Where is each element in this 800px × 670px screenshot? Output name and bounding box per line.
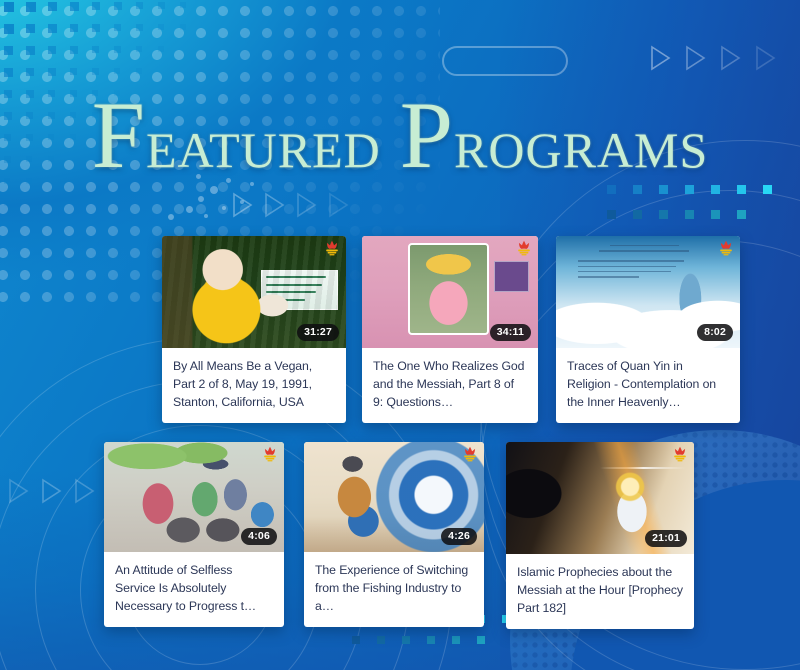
grid-square [427,636,435,644]
lotus-logo-icon [461,446,479,462]
grid-square [607,185,616,194]
halftone-square [158,46,164,52]
grid-square [659,210,668,219]
play-triangle-icon [232,192,253,223]
grid-square [737,210,746,219]
halftone-square [180,24,186,30]
program-title[interactable]: Traces of Quan Yin in Religion - Contemp… [556,348,740,423]
play-triangle-icon [720,45,741,76]
program-card[interactable]: 8:02Traces of Quan Yin in Religion - Con… [556,236,740,423]
halftone-square [48,68,56,76]
play-triangle-icon [8,478,29,504]
halftone-square [48,46,56,54]
lotus-logo-icon [717,240,735,256]
grid-square [685,185,694,194]
grid-square [737,185,746,194]
grid-square [685,210,694,219]
duration-badge: 8:02 [697,324,733,341]
decorative-dot [186,206,193,213]
halftone-square [158,24,164,30]
play-triangle-icon [264,192,285,218]
program-thumbnail[interactable]: 8:02 [556,236,740,348]
lotus-logo-icon [323,240,341,256]
decorative-dot [198,196,204,202]
program-title[interactable]: An Attitude of Selfless Service Is Absol… [104,552,284,627]
play-triangle-icon [41,478,62,509]
grid-square [633,210,642,219]
play-triangles-mid-left [232,192,349,223]
program-card[interactable]: 34:11The One Who Realizes God and the Me… [362,236,538,423]
halftone-square [70,24,78,32]
decorative-dot [222,206,226,210]
play-triangles-left-edge [8,478,95,509]
program-card[interactable]: 31:27By All Means Be a Vegan, Part 2 of … [162,236,346,423]
halftone-square [92,46,99,53]
halftone-square [26,24,35,33]
lotus-logo-icon [515,240,533,256]
halftone-square [92,2,100,10]
duration-badge: 21:01 [645,530,687,547]
decorative-dot [168,214,174,220]
play-triangle-icon [685,45,706,76]
halftone-square [48,24,57,33]
halftone-square [158,2,165,9]
program-thumbnail[interactable]: 34:11 [362,236,538,348]
duration-badge: 4:06 [241,528,277,545]
program-thumbnail[interactable]: 4:06 [104,442,284,552]
thumb-light-streak [600,467,686,469]
grid-square [452,636,460,644]
grid-square [402,636,410,644]
play-triangles-top-right [650,45,776,76]
grid-square [607,210,616,219]
thumb-text-lines [578,243,710,281]
program-card[interactable]: 4:06An Attitude of Selfless Service Is A… [104,442,284,627]
program-thumbnail[interactable]: 4:26 [304,442,484,552]
duration-badge: 4:26 [441,528,477,545]
halftone-square [4,68,13,77]
play-triangle-icon [755,45,776,76]
play-triangle-icon [296,192,317,223]
page-title-text: Featured Programs [92,103,709,183]
halftone-square [114,2,122,10]
play-triangle-icon [328,192,349,223]
halftone-square [92,24,100,32]
halftone-square [114,46,121,53]
halftone-square [48,2,57,11]
halftone-square [180,2,186,8]
halftone-square [26,2,36,12]
halftone-square [114,68,120,74]
play-triangle-icon [8,478,29,509]
thumb-inner-photo [408,243,489,335]
program-card[interactable]: 21:01Islamic Prophecies about the Messia… [506,442,694,629]
halftone-square [4,200,10,206]
halftone-square [114,24,121,31]
program-title[interactable]: The One Who Realizes God and the Messiah… [362,348,538,423]
halftone-square [4,24,14,34]
halftone-square [4,46,13,55]
pill-outline-decoration [442,46,568,76]
grid-square [711,185,720,194]
duration-badge: 31:27 [297,324,339,341]
program-thumbnail[interactable]: 21:01 [506,442,694,554]
halftone-square [136,68,142,74]
play-triangle-icon [41,478,62,504]
halftone-square [136,24,143,31]
grid-square [763,185,772,194]
grid-square [711,210,720,219]
decorative-dot [204,214,208,218]
halftone-square [26,46,35,55]
halftone-square [70,2,79,11]
lotus-logo-icon [261,446,279,462]
lotus-logo-icon [671,446,689,462]
play-triangle-icon [650,45,671,71]
grid-square [377,636,385,644]
right-square-grid [607,185,772,219]
program-title[interactable]: By All Means Be a Vegan, Part 2 of 8, Ma… [162,348,346,423]
halftone-square [92,68,99,75]
decorative-dot [210,186,218,194]
halftone-square [136,2,143,9]
grid-square [659,185,668,194]
featured-programs-banner: Featured Programs 31:27By All Means Be a… [0,0,800,670]
play-triangle-icon [74,478,95,504]
program-thumbnail[interactable]: 31:27 [162,236,346,348]
play-triangle-icon [296,192,317,218]
halftone-square [136,46,142,52]
halftone-square [26,68,34,76]
grid-square [352,636,360,644]
play-triangle-icon [755,45,776,71]
program-title[interactable]: Islamic Prophecies about the Messiah at … [506,554,694,629]
play-triangle-icon [650,45,671,76]
thumb-overlay-card [261,270,338,310]
thumb-side-note [494,261,529,292]
grid-square [477,636,485,644]
program-card[interactable]: 4:26The Experience of Switching from the… [304,442,484,627]
halftone-square [70,68,77,75]
grid-square [633,185,642,194]
halftone-square [70,46,78,54]
play-triangle-icon [328,192,349,218]
play-triangle-icon [720,45,741,71]
play-triangle-icon [74,478,95,509]
halftone-square [4,2,14,12]
program-title[interactable]: The Experience of Switching from the Fis… [304,552,484,627]
play-triangle-icon [232,192,253,218]
duration-badge: 34:11 [490,324,531,341]
play-triangle-icon [264,192,285,223]
play-triangle-icon [685,45,706,71]
page-title: Featured Programs [0,88,800,184]
